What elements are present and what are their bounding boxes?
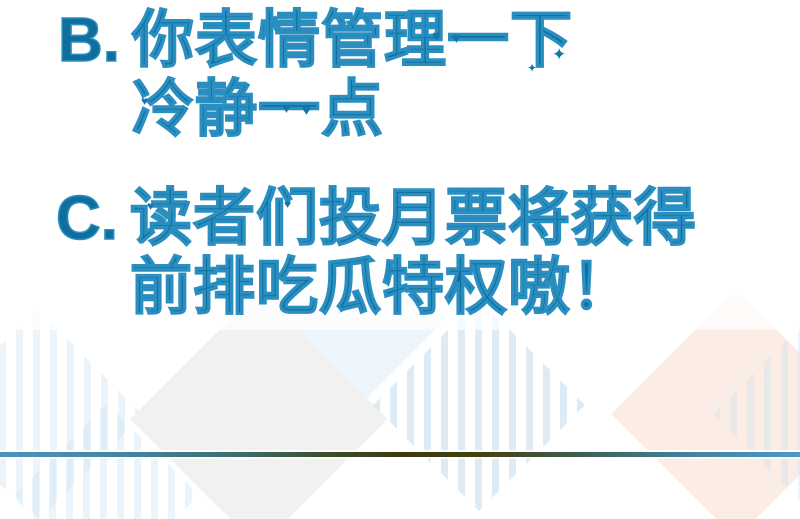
option-c-text-line-1: 读者们投月票将获得 — [130, 181, 697, 254]
option-b-line-1: B.你表情管理一下 — [0, 6, 800, 75]
option-c-marker: C. — [56, 184, 118, 253]
option-b-text-line-1: 你表情管理一下 — [132, 3, 573, 76]
option-c-text-line-2: 前排吃瓜特权嗷！ — [130, 250, 634, 323]
option-c-line-2: 前排吃瓜特权嗷！ — [0, 253, 800, 322]
option-c-line-1: C.读者们投月票将获得 — [0, 184, 800, 253]
answer-option-c: C.读者们投月票将获得 前排吃瓜特权嗷！ — [0, 184, 800, 322]
option-b-marker: B. — [58, 6, 120, 75]
promo-poster-panel: B.你表情管理一下 冷静一点 C.读者们投月票将获得 前排吃瓜特权嗷！ ♥♥✦✦… — [0, 0, 800, 519]
answer-options-container: B.你表情管理一下 冷静一点 C.读者们投月票将获得 前排吃瓜特权嗷！ ♥♥✦✦… — [0, 0, 800, 519]
divider-highlight-bottom — [0, 457, 800, 459]
answer-option-b: B.你表情管理一下 冷静一点 — [0, 6, 800, 144]
option-b-line-2: 冷静一点 — [0, 75, 800, 144]
option-b-text-line-2: 冷静一点 — [132, 72, 384, 145]
